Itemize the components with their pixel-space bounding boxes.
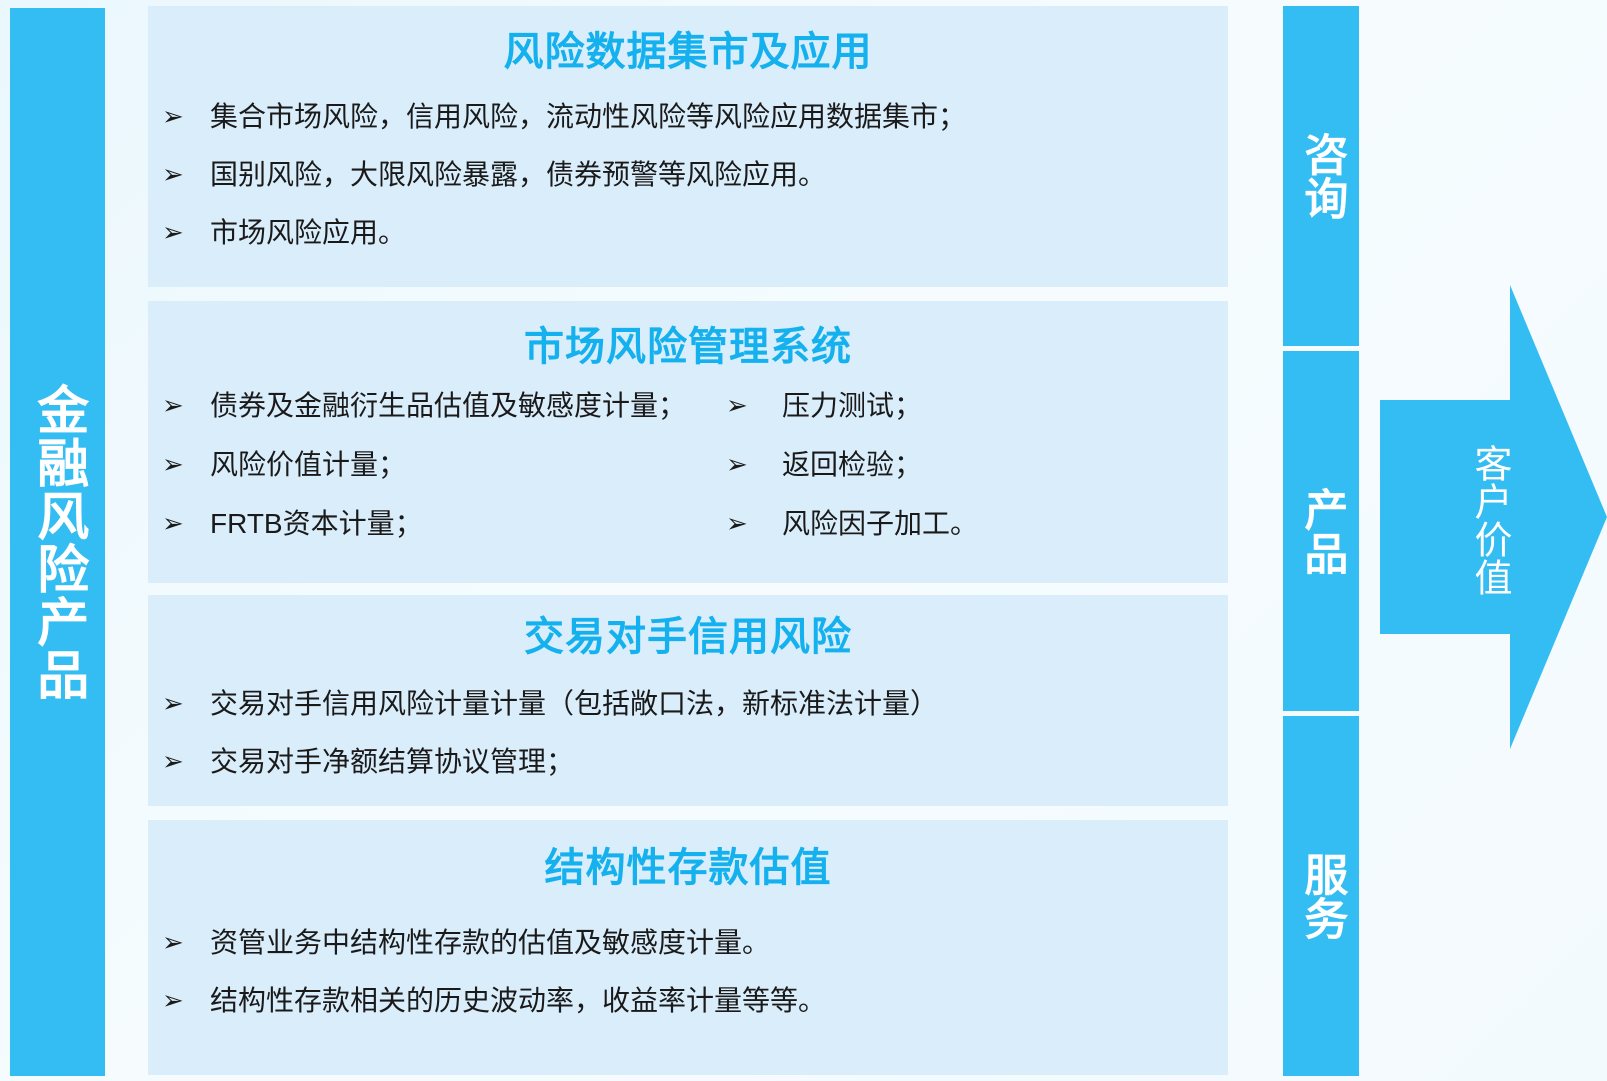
stage-block-service: 服务 <box>1283 716 1359 1076</box>
list-item: ➢ 结构性存款相关的历史波动率，收益率计量等等。 <box>148 986 1228 1017</box>
list-item: ➢ FRTB资本计量； <box>148 509 688 540</box>
list-item: ➢ 压力测试； <box>688 391 1228 422</box>
stage-block-label: 产品 <box>1298 487 1345 575</box>
list-item-text: 债券及金融衍生品估值及敏感度计量； <box>210 391 688 422</box>
stage-block-label: 咨询 <box>1298 132 1345 220</box>
bullet-two-column-grid: ➢ 债券及金融衍生品估值及敏感度计量； ➢ 风险价值计量； ➢ FRTB资本计量… <box>148 391 1228 567</box>
panel-market-risk-system: 市场风险管理系统 ➢ 债券及金融衍生品估值及敏感度计量； ➢ 风险价值计量； ➢… <box>148 301 1228 583</box>
panel-counterparty-credit-risk: 交易对手信用风险 ➢ 交易对手信用风险计量计量（包括敞口法，新标准法计量） ➢ … <box>148 595 1228 806</box>
panel-stack: 风险数据集市及应用 ➢ 集合市场风险，信用风险，流动性风险等风险应用数据集市； … <box>148 6 1228 1075</box>
bullet-list: ➢ 交易对手信用风险计量计量（包括敞口法，新标准法计量） ➢ 交易对手净额结算协… <box>148 689 1228 778</box>
list-item-text: 交易对手信用风险计量计量（包括敞口法，新标准法计量） <box>210 689 1228 720</box>
arrow-bullet-icon: ➢ <box>148 391 210 420</box>
arrow-bullet-icon: ➢ <box>148 689 210 718</box>
list-item-text: 风险价值计量； <box>210 450 688 481</box>
customer-value-arrow: 客户价值 <box>1380 272 1607 762</box>
arrow-bullet-icon: ➢ <box>148 986 210 1015</box>
arrow-bullet-icon: ➢ <box>688 509 782 538</box>
list-item: ➢ 市场风险应用。 <box>148 218 1228 249</box>
list-item: ➢ 资管业务中结构性存款的估值及敏感度计量。 <box>148 928 1228 959</box>
stage-block-label: 服务 <box>1298 852 1345 940</box>
arrow-bullet-icon: ➢ <box>148 509 210 538</box>
list-item-text: 结构性存款相关的历史波动率，收益率计量等等。 <box>210 986 1228 1017</box>
left-category-label: 金融风险产品 <box>30 383 85 701</box>
bullet-list: ➢ 集合市场风险，信用风险，流动性风险等风险应用数据集市； ➢ 国别风险，大限风… <box>148 102 1228 248</box>
panel-title: 市场风险管理系统 <box>148 301 1228 367</box>
list-item-text: 资管业务中结构性存款的估值及敏感度计量。 <box>210 928 1228 959</box>
list-item: ➢ 风险价值计量； <box>148 450 688 481</box>
panel-risk-data-mart: 风险数据集市及应用 ➢ 集合市场风险，信用风险，流动性风险等风险应用数据集市； … <box>148 6 1228 287</box>
list-item-text: FRTB资本计量； <box>210 509 688 540</box>
arrow-bullet-icon: ➢ <box>148 928 210 957</box>
arrow-bullet-icon: ➢ <box>688 450 782 479</box>
arrow-bullet-icon: ➢ <box>148 450 210 479</box>
list-item: ➢ 债券及金融衍生品估值及敏感度计量； <box>148 391 688 422</box>
bullet-list: ➢ 资管业务中结构性存款的估值及敏感度计量。 ➢ 结构性存款相关的历史波动率，收… <box>148 928 1228 1017</box>
list-item-text: 国别风险，大限风险暴露，债券预警等风险应用。 <box>210 160 1228 191</box>
arrow-bullet-icon: ➢ <box>148 218 210 247</box>
bullet-column-left: ➢ 债券及金融衍生品估值及敏感度计量； ➢ 风险价值计量； ➢ FRTB资本计量… <box>148 391 688 567</box>
list-item-text: 交易对手净额结算协议管理； <box>210 747 1228 778</box>
panel-title: 交易对手信用风险 <box>148 595 1228 657</box>
customer-value-label: 客户价值 <box>1380 410 1510 630</box>
arrow-bullet-icon: ➢ <box>148 102 210 131</box>
bullet-column-right: ➢ 压力测试； ➢ 返回检验； ➢ 风险因子加工。 <box>688 391 1228 567</box>
list-item-text: 市场风险应用。 <box>210 218 1228 249</box>
list-item: ➢ 返回检验； <box>688 450 1228 481</box>
stage-block-product: 产品 <box>1283 351 1359 711</box>
panel-title: 结构性存款估值 <box>148 820 1228 888</box>
panel-title: 风险数据集市及应用 <box>148 6 1228 72</box>
list-item: ➢ 国别风险，大限风险暴露，债券预警等风险应用。 <box>148 160 1228 191</box>
arrow-bullet-icon: ➢ <box>688 391 782 420</box>
left-category-bar: 金融风险产品 <box>10 8 105 1076</box>
arrow-bullet-icon: ➢ <box>148 747 210 776</box>
arrow-bullet-icon: ➢ <box>148 160 210 189</box>
right-stage-column: 咨询 产品 服务 <box>1283 6 1359 1076</box>
list-item: ➢ 集合市场风险，信用风险，流动性风险等风险应用数据集市； <box>148 102 1228 133</box>
list-item: ➢ 交易对手信用风险计量计量（包括敞口法，新标准法计量） <box>148 689 1228 720</box>
list-item-text: 集合市场风险，信用风险，流动性风险等风险应用数据集市； <box>210 102 1228 133</box>
panel-structured-deposit-valuation: 结构性存款估值 ➢ 资管业务中结构性存款的估值及敏感度计量。 ➢ 结构性存款相关… <box>148 820 1228 1075</box>
list-item-text: 压力测试； <box>782 391 1228 422</box>
list-item: ➢ 交易对手净额结算协议管理； <box>148 747 1228 778</box>
list-item: ➢ 风险因子加工。 <box>688 509 1228 540</box>
stage-block-consulting: 咨询 <box>1283 6 1359 346</box>
diagram-canvas: 金融风险产品 风险数据集市及应用 ➢ 集合市场风险，信用风险，流动性风险等风险应… <box>0 0 1607 1081</box>
list-item-text: 风险因子加工。 <box>782 509 1228 540</box>
list-item-text: 返回检验； <box>782 450 1228 481</box>
